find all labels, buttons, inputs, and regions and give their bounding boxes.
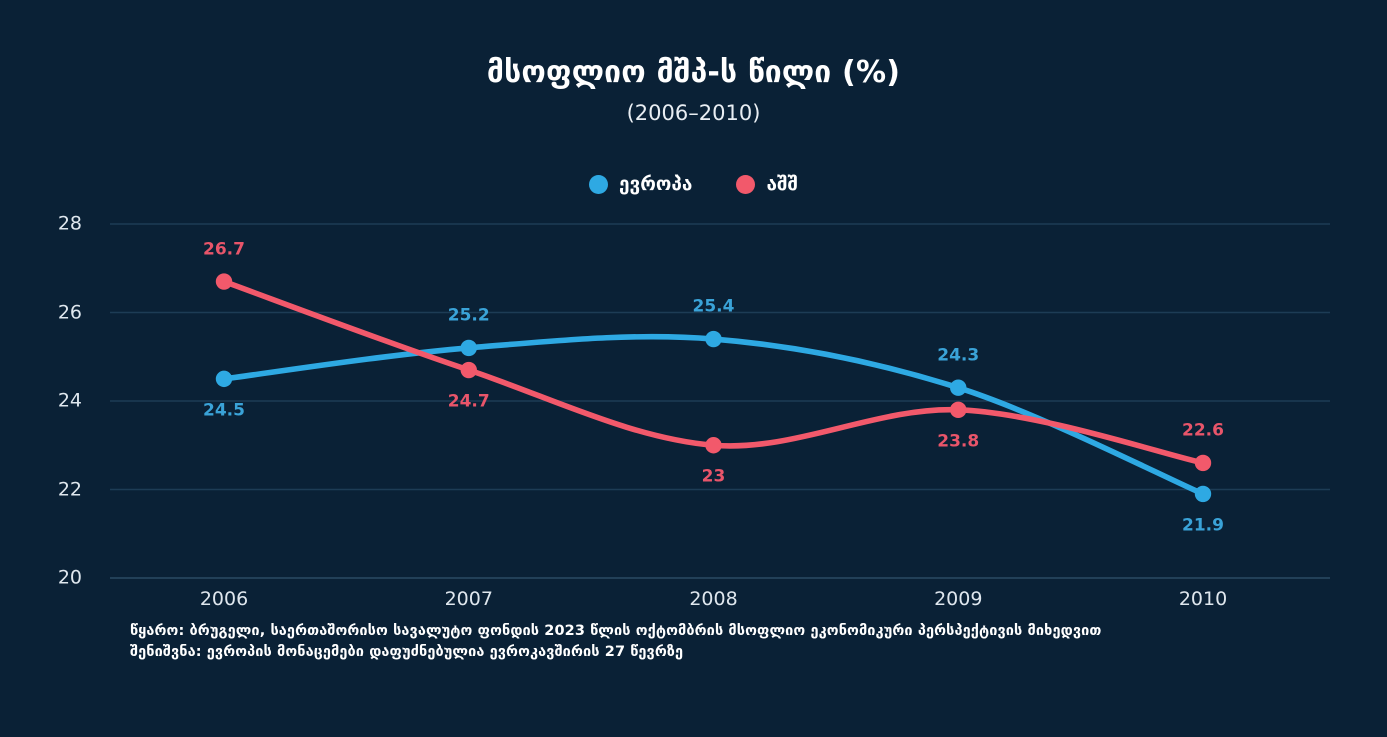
y-axis-tick-label: 28 [30, 215, 82, 234]
x-axis-tick-label: 2009 [898, 590, 1018, 609]
footnote-note-line: შენიშვნა: ევროპის მონაცემები დაფუძნებული… [130, 642, 1360, 663]
data-label-europe-2009: 24.3 [937, 347, 979, 364]
data-label-europe-2007: 25.2 [448, 307, 490, 324]
data-point-usa-2010[interactable] [1195, 455, 1211, 471]
x-axis-tick-label: 2010 [1143, 590, 1263, 609]
data-point-europe-2010[interactable] [1195, 486, 1211, 502]
data-label-europe-2010: 21.9 [1182, 517, 1224, 534]
data-point-usa-2009[interactable] [950, 402, 966, 418]
data-label-europe-2006: 24.5 [203, 402, 245, 419]
y-axis-tick-label: 24 [30, 392, 82, 411]
data-point-usa-2008[interactable] [705, 437, 721, 453]
x-axis-tick-label: 2006 [164, 590, 284, 609]
data-point-europe-2008[interactable] [705, 331, 721, 347]
data-point-europe-2006[interactable] [216, 371, 232, 387]
chart-footnote: წყარო: ბრუგელი, საერთაშორისო სავალუტო ფო… [130, 621, 1360, 662]
data-point-europe-2009[interactable] [950, 380, 966, 396]
data-label-usa-2007: 24.7 [448, 394, 490, 411]
data-point-usa-2007[interactable] [461, 362, 477, 378]
data-label-usa-2009: 23.8 [937, 433, 979, 450]
data-point-usa-2006[interactable] [216, 273, 232, 289]
chart-container: მსოფლიო მშპ-ს წილი (%) (2006–2010) ევროპ… [0, 0, 1387, 737]
x-axis-tick-label: 2007 [409, 590, 529, 609]
x-axis-tick-label: 2008 [654, 590, 774, 609]
data-label-usa-2006: 26.7 [203, 241, 245, 258]
y-axis-tick-label: 20 [30, 569, 82, 588]
data-label-usa-2008: 23 [702, 469, 726, 486]
data-label-europe-2008: 25.4 [693, 299, 735, 316]
data-label-usa-2010: 22.6 [1182, 422, 1224, 439]
data-point-europe-2007[interactable] [461, 340, 477, 356]
y-axis-tick-label: 26 [30, 303, 82, 322]
y-axis-tick-label: 22 [30, 480, 82, 499]
footnote-source-line: წყარო: ბრუგელი, საერთაშორისო სავალუტო ფო… [130, 621, 1360, 642]
